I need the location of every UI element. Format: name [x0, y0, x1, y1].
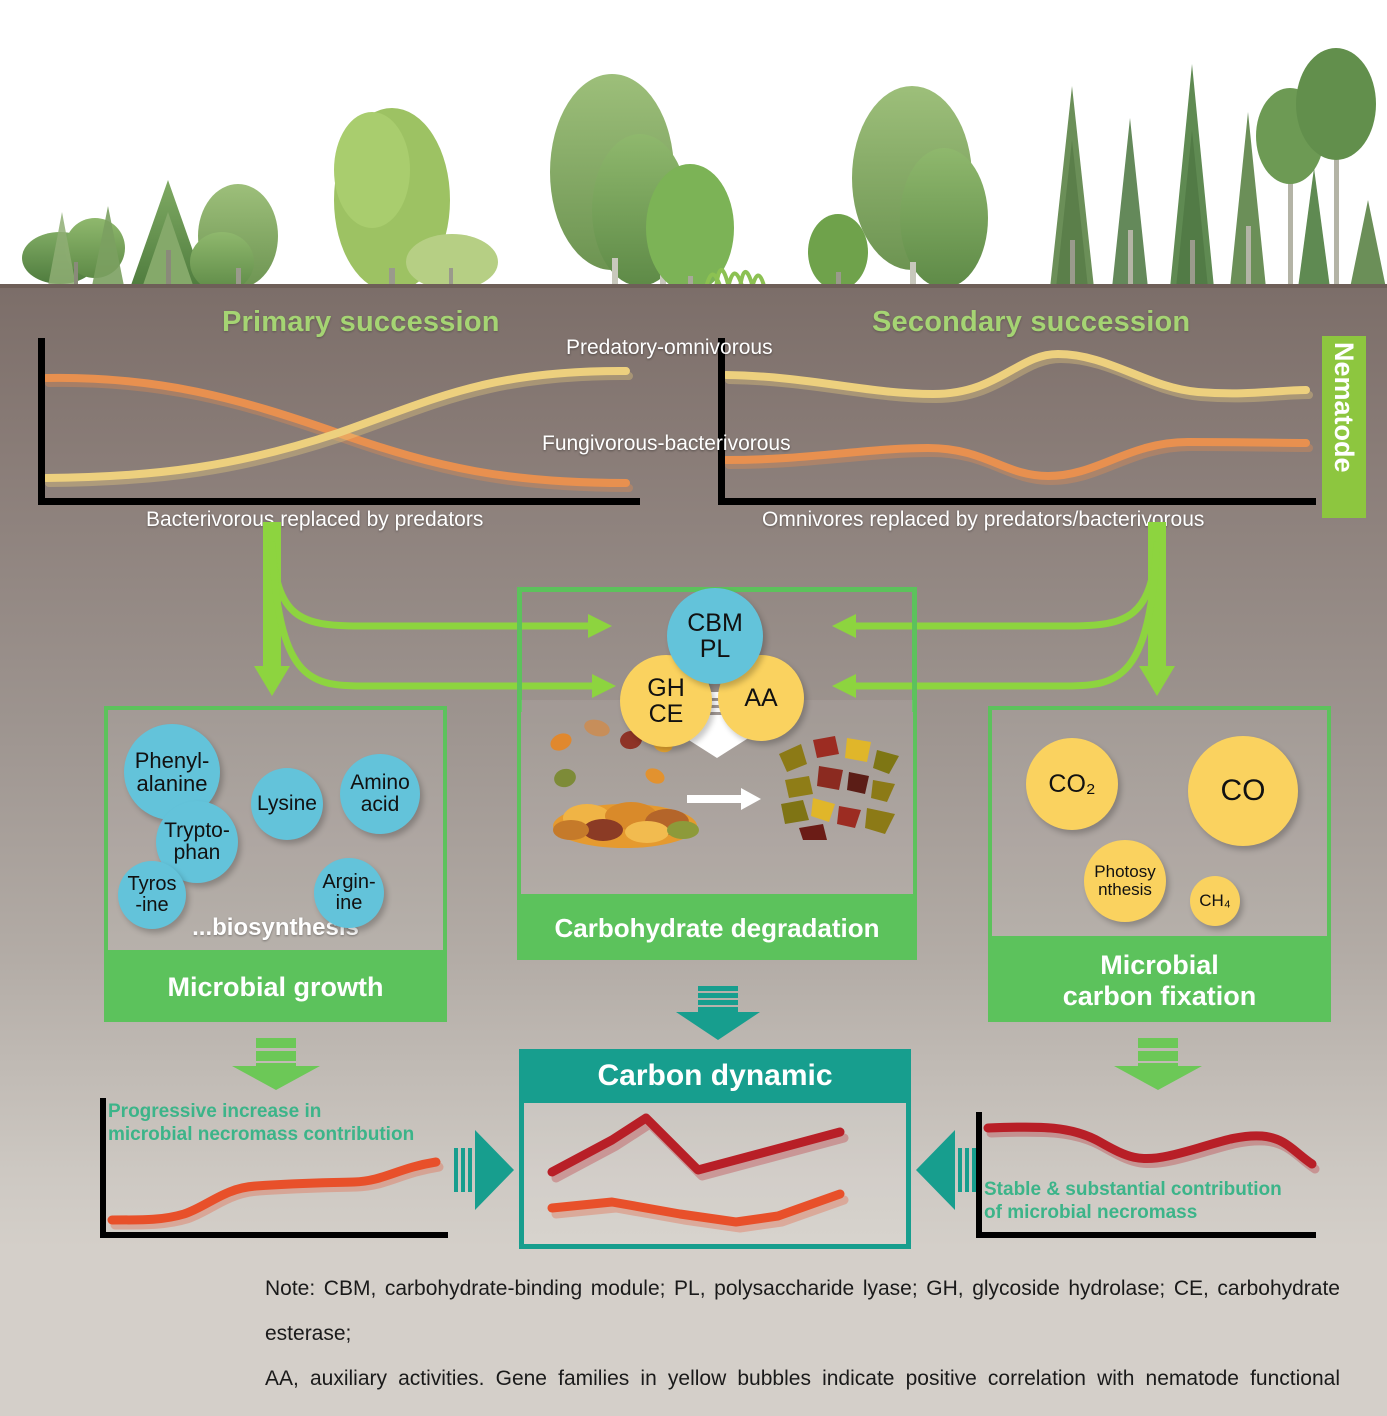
primary-nematode-chart: [38, 338, 638, 500]
bubble-amino-acid-label: Amino acid: [350, 772, 410, 816]
arrow-down-green-right: [1110, 1036, 1206, 1092]
bubble-amino-acid: Amino acid: [340, 754, 420, 834]
bubble-co: CO: [1188, 736, 1298, 846]
series-label-predatory-omnivorous: Predatory-omnivorous: [566, 336, 773, 360]
left-necromass-plot: [106, 1150, 446, 1238]
bubble-aa-label: AA: [744, 685, 777, 711]
microbial-carbon-fixation-caption: Microbial carbon fixation: [988, 940, 1331, 1022]
carbohydrate-degradation-panel: Carbohydrate degradation: [517, 700, 917, 960]
carbohydrate-degradation-caption: Carbohydrate degradation: [517, 898, 917, 960]
bubble-ch4-label: CH₄: [1199, 892, 1231, 910]
series-label-fungivorous-bacterivorous: Fungivorous-bacterivorous: [542, 432, 791, 456]
nematode-label-tab: Nematode: [1322, 336, 1366, 518]
bubble-tyrosine: Tyros -ine: [118, 861, 186, 929]
bubble-cbm-pl-label: CBM PL: [687, 610, 743, 663]
figure-note: Note: CBM, carbohydrate-binding module; …: [265, 1266, 1340, 1416]
degraded-fragments-illustration: [773, 732, 903, 842]
bubble-arginine-label: Argin- ine: [322, 872, 375, 914]
primary-chart-y-axis: [38, 338, 45, 503]
bubble-lysine: Lysine: [251, 768, 323, 840]
right-necromass-note: Stable & substantial contribution of mic…: [984, 1178, 1334, 1224]
white-right-arrow-icon: [687, 788, 761, 810]
bubble-tyrosine-label: Tyros -ine: [128, 874, 177, 916]
arrow-down-green-left: [228, 1036, 324, 1092]
note-line-2: AA, auxiliary activities. Gene families …: [265, 1356, 1340, 1416]
microbial-carbon-fixation-panel: Microbial carbon fixation CO₂ CO Photosy…: [988, 706, 1331, 1022]
secondary-succession-title: Secondary succession: [872, 306, 1190, 339]
left-necromass-note: Progressive increase in microbial necrom…: [108, 1100, 468, 1146]
bubble-photosynthesis-label: Photosy nthesis: [1094, 863, 1155, 899]
bubble-phenylalanine-label: Phenyl- alanine: [135, 749, 210, 795]
bubble-gh-ce-label: GH CE: [647, 675, 685, 728]
trees-illustration: [0, 0, 1387, 292]
bubble-ch4: CH₄: [1190, 876, 1240, 926]
bubble-arginine: Argin- ine: [314, 858, 384, 928]
primary-nematode-plot: [38, 338, 638, 510]
bubble-co2-label: CO₂: [1048, 771, 1095, 797]
secondary-chart-y-axis: [718, 338, 725, 503]
bubble-cbm-pl: CBM PL: [667, 588, 763, 684]
tree-silhouette-band: [0, 0, 1387, 292]
right-necromass-x-axis: [976, 1232, 1316, 1238]
carbon-dynamic-title: Carbon dynamic: [519, 1049, 911, 1103]
note-line-1: Note: CBM, carbohydrate-binding module; …: [265, 1266, 1340, 1356]
secondary-nematode-chart: [718, 338, 1314, 500]
microbial-growth-panel: Microbial growth ...biosynthesis Phenyl-…: [104, 706, 447, 1022]
bubble-lysine-label: Lysine: [257, 793, 317, 815]
arrow-down-teal-center: [672, 984, 764, 1042]
secondary-nematode-plot: [718, 338, 1314, 510]
arrow-left-teal-right-side: [908, 1118, 978, 1222]
bubble-co-label: CO: [1221, 775, 1266, 807]
bubble-photosynthesis: Photosy nthesis: [1084, 840, 1166, 922]
bubble-tryptophan-label: Trypto- phan: [164, 820, 230, 864]
nematode-label-text: Nematode: [1322, 336, 1366, 473]
figure-root: Primary succession Secondary succession …: [0, 0, 1387, 1416]
carbon-dynamic-plot: [540, 1110, 892, 1238]
microbial-growth-caption: Microbial growth: [104, 954, 447, 1022]
bubble-co2: CO₂: [1026, 738, 1118, 830]
primary-succession-title: Primary succession: [222, 306, 500, 339]
